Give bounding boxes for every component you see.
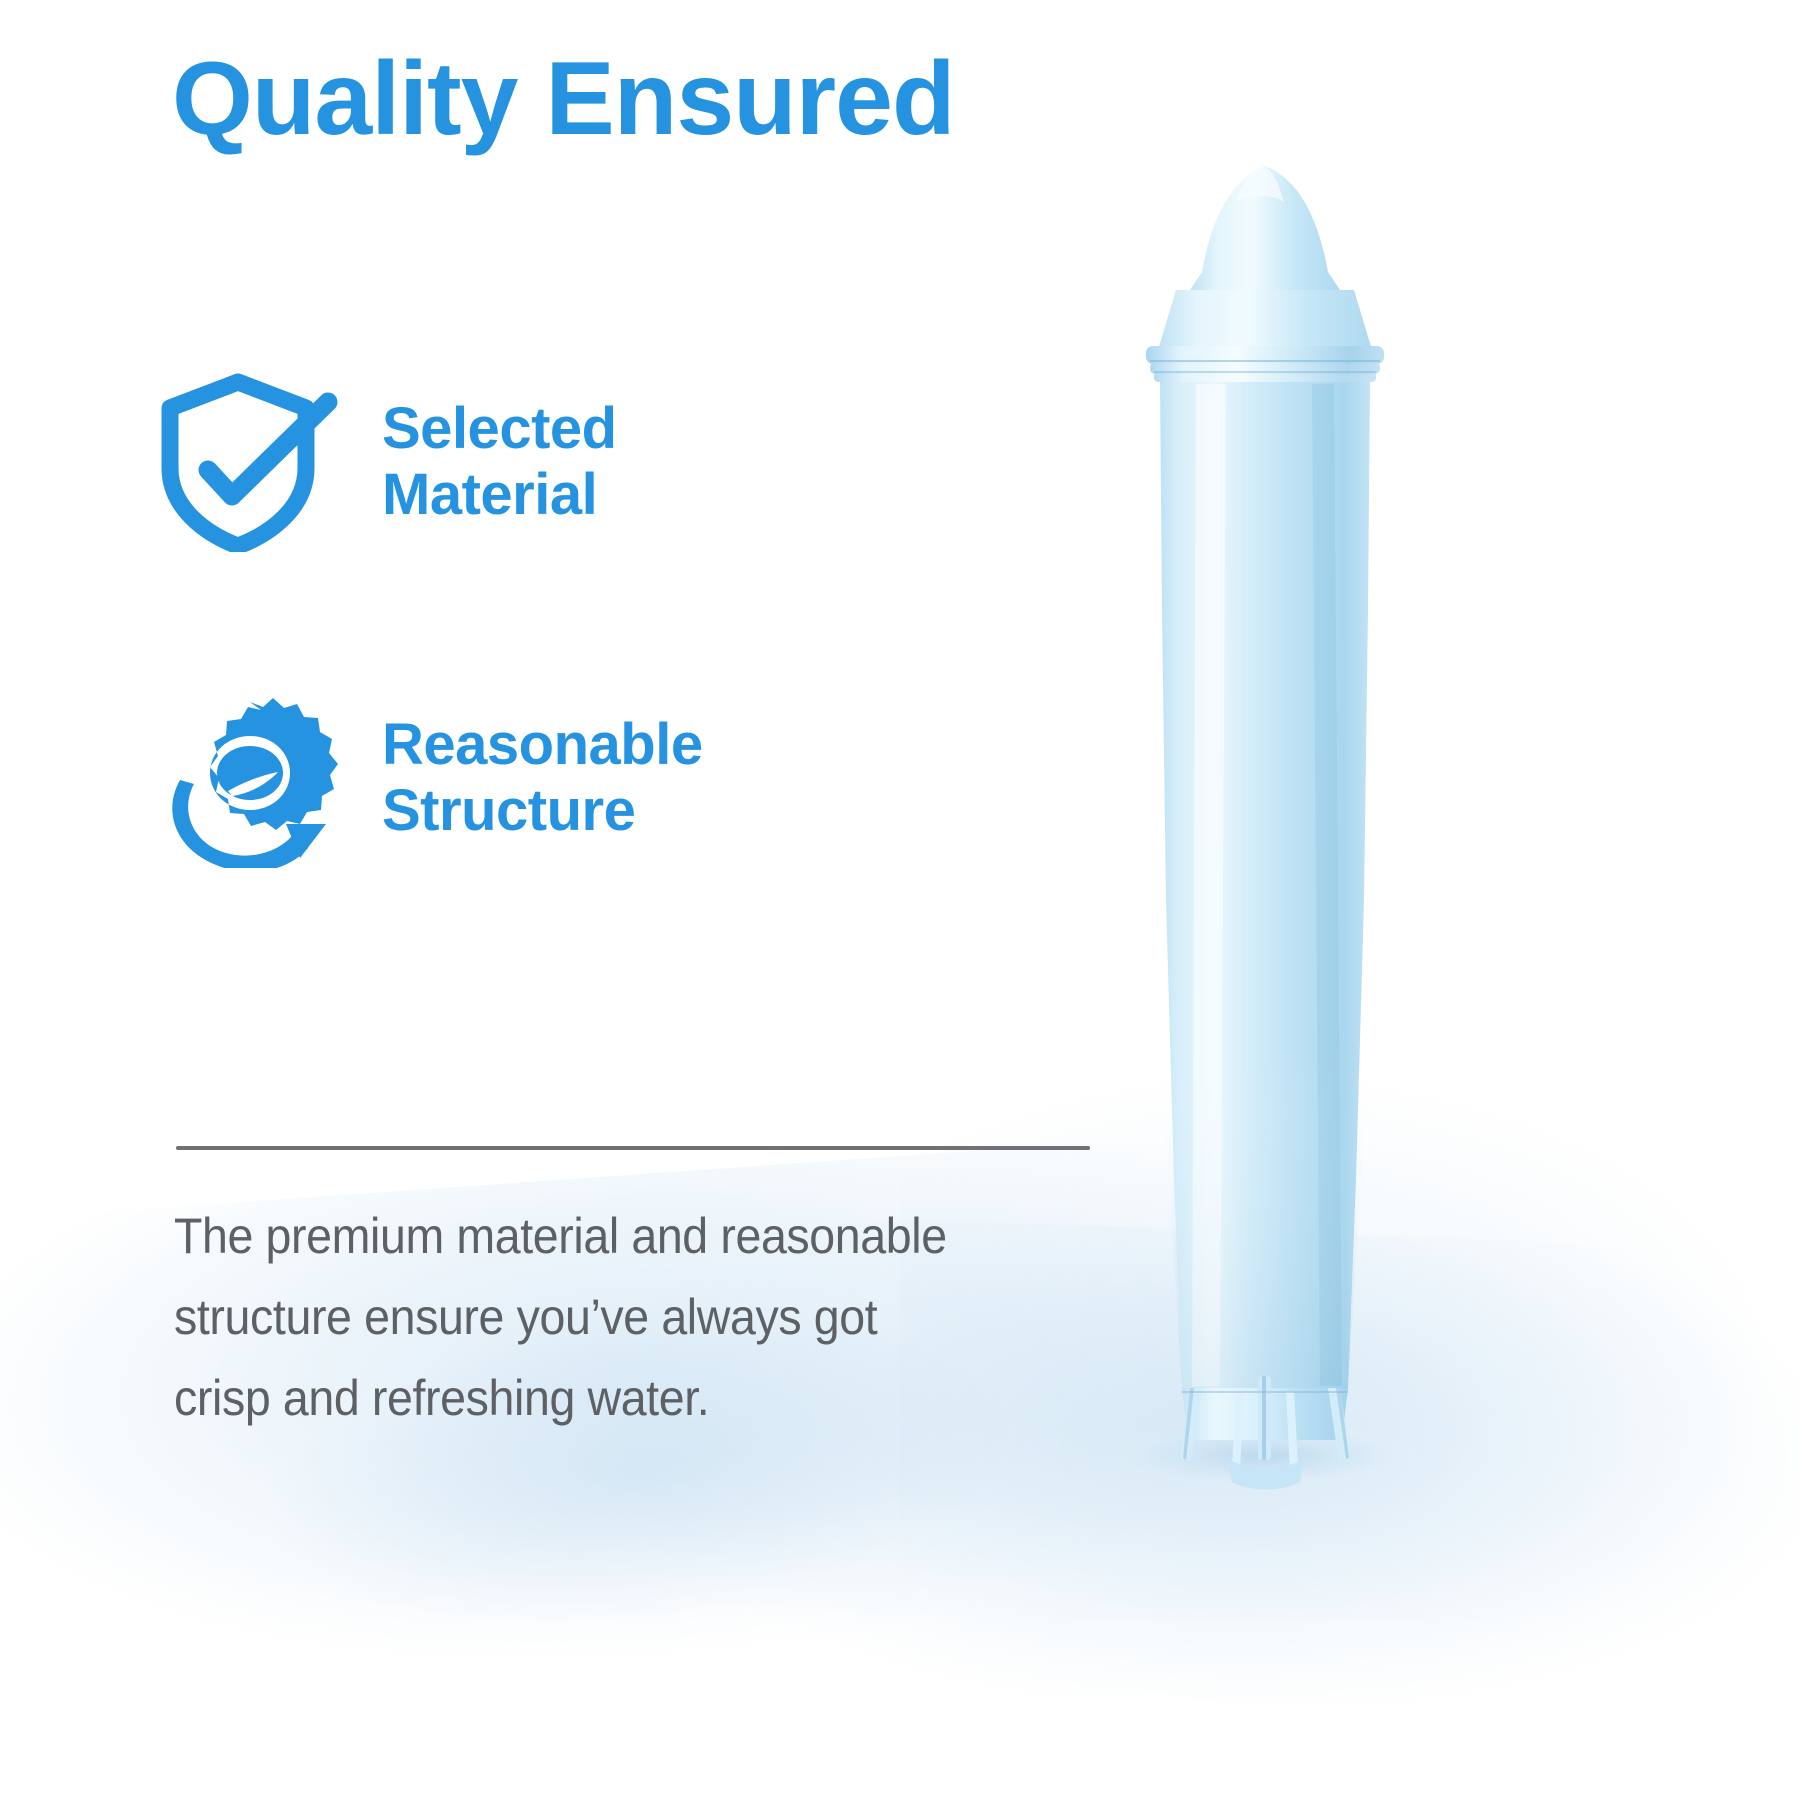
feature-item-selected-material: Selected Material — [158, 372, 617, 552]
section-divider — [176, 1146, 1090, 1150]
feature-label: Selected Material — [382, 396, 617, 527]
description-paragraph: The premium material and reasonable stru… — [174, 1196, 1058, 1439]
marketing-image-canvas: Quality Ensured Selected Material — [0, 0, 1800, 1800]
shield-check-icon — [158, 372, 340, 552]
water-filter-cartridge-illustration — [1050, 140, 1480, 1500]
gear-recycle-icon — [158, 688, 340, 868]
product-image — [1050, 140, 1480, 1500]
feature-item-reasonable-structure: Reasonable Structure — [158, 688, 703, 868]
page-title: Quality Ensured — [172, 46, 955, 152]
feature-label: Reasonable Structure — [382, 712, 703, 843]
